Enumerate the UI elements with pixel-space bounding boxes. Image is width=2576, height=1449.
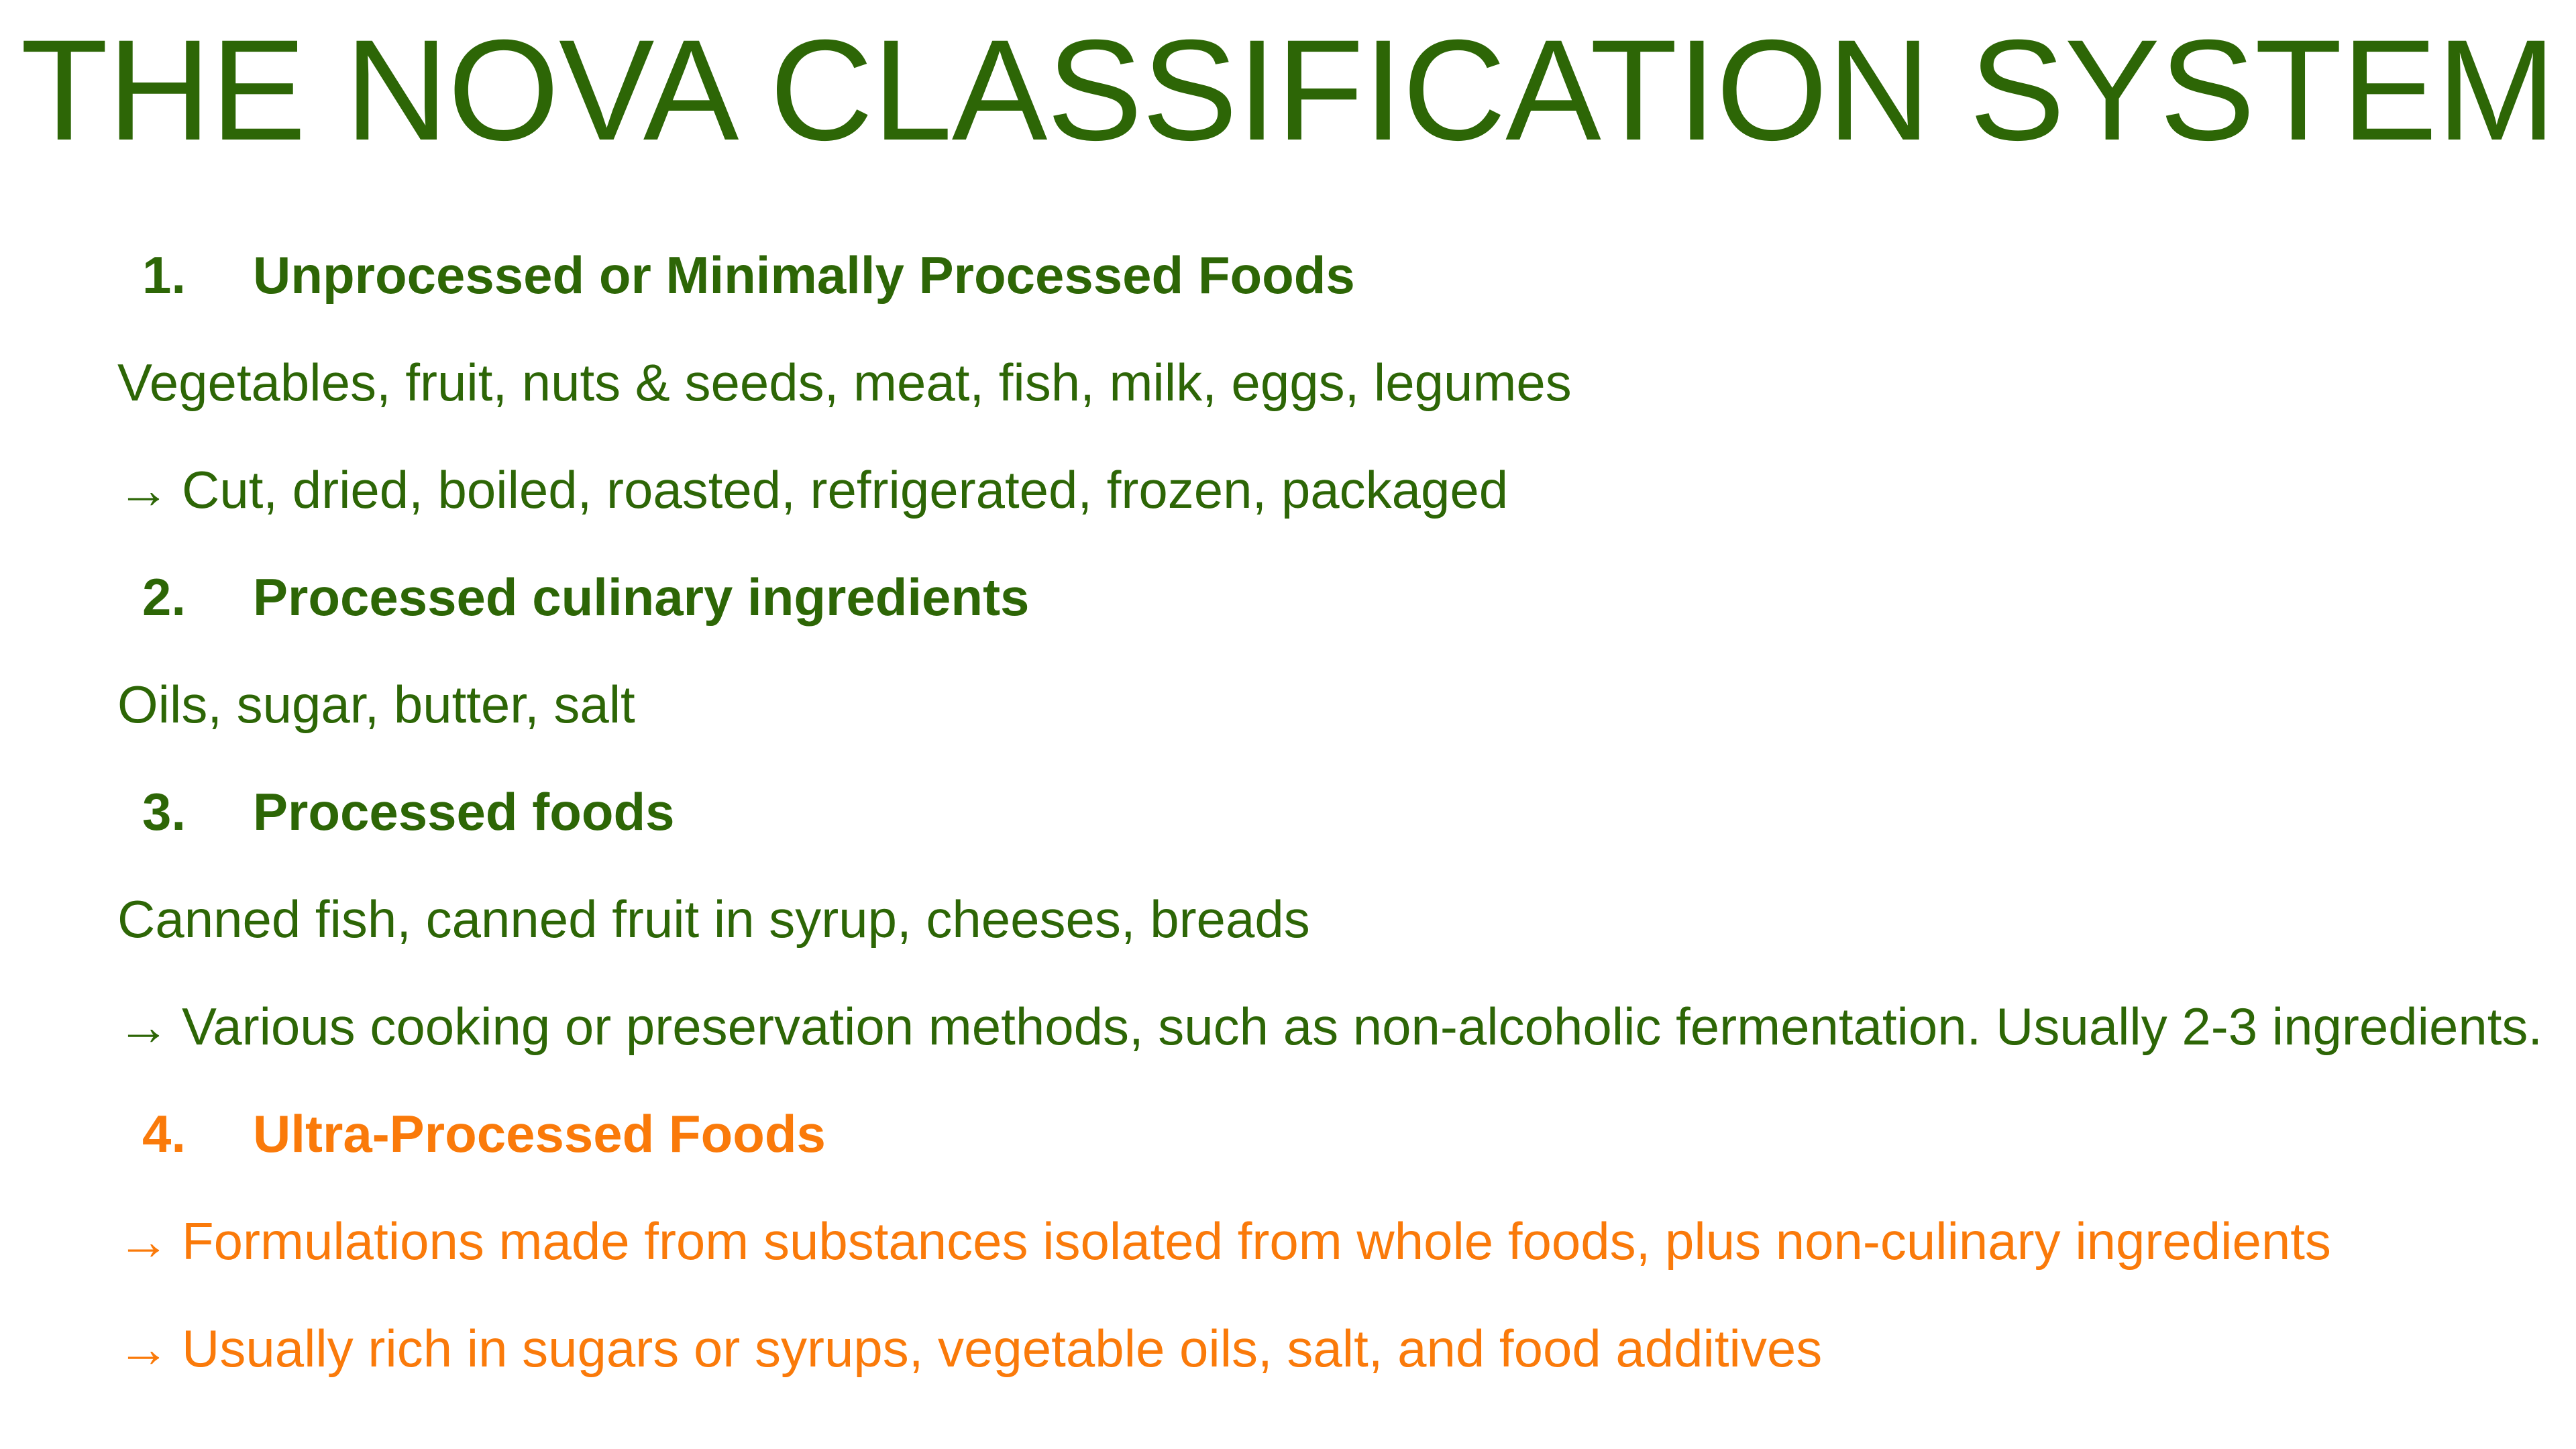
category-detail-2-1: Oils, sugar, butter, salt: [0, 651, 2576, 758]
category-heading-3: 3.Processed foods: [0, 758, 2576, 865]
category-number-4: 4.: [142, 1080, 253, 1187]
detail-text: Oils, sugar, butter, salt: [117, 651, 635, 758]
detail-text: Vegetables, fruit, nuts & seeds, meat, f…: [117, 329, 1572, 436]
category-heading-1: 1.Unprocessed or Minimally Processed Foo…: [0, 221, 2576, 329]
category-detail-arrow-1-2: →Cut, dried, boiled, roasted, refrigerat…: [0, 436, 2576, 543]
category-detail-3-1: Canned fish, canned fruit in syrup, chee…: [0, 865, 2576, 973]
category-number-1: 1.: [142, 221, 253, 329]
arrow-right-icon: →: [117, 1322, 170, 1375]
category-number-3: 3.: [142, 758, 253, 865]
category-detail-1-1: Vegetables, fruit, nuts & seeds, meat, f…: [0, 329, 2576, 436]
detail-text: Cut, dried, boiled, roasted, refrigerate…: [182, 436, 1508, 543]
detail-text: Formulations made from substances isolat…: [182, 1187, 2331, 1295]
detail-text: Canned fish, canned fruit in syrup, chee…: [117, 865, 1310, 973]
detail-text: Usually rich in sugars or syrups, vegeta…: [182, 1295, 1822, 1402]
category-detail-arrow-4-1: →Formulations made from substances isola…: [0, 1187, 2576, 1295]
category-label-4: Ultra-Processed Foods: [253, 1080, 826, 1187]
category-detail-arrow-3-2: →Various cooking or preservation methods…: [0, 973, 2576, 1080]
arrow-right-icon: →: [117, 1215, 170, 1267]
category-detail-arrow-4-2: →Usually rich in sugars or syrups, veget…: [0, 1295, 2576, 1402]
page-title: THE NOVA CLASSIFICATION SYSTEM: [0, 19, 2576, 162]
category-number-2: 2.: [142, 543, 253, 651]
nova-category-list: 1.Unprocessed or Minimally Processed Foo…: [0, 221, 2576, 1402]
detail-text: Various cooking or preservation methods,…: [182, 973, 2542, 1080]
category-heading-2: 2.Processed culinary ingredients: [0, 543, 2576, 651]
category-label-3: Processed foods: [253, 758, 675, 865]
category-heading-4: 4.Ultra-Processed Foods: [0, 1080, 2576, 1187]
category-label-1: Unprocessed or Minimally Processed Foods: [253, 221, 1355, 329]
category-label-2: Processed culinary ingredients: [253, 543, 1029, 651]
slide-canvas: THE NOVA CLASSIFICATION SYSTEM 1.Unproce…: [0, 0, 2576, 1449]
arrow-right-icon: →: [117, 1000, 170, 1053]
arrow-right-icon: →: [117, 464, 170, 516]
